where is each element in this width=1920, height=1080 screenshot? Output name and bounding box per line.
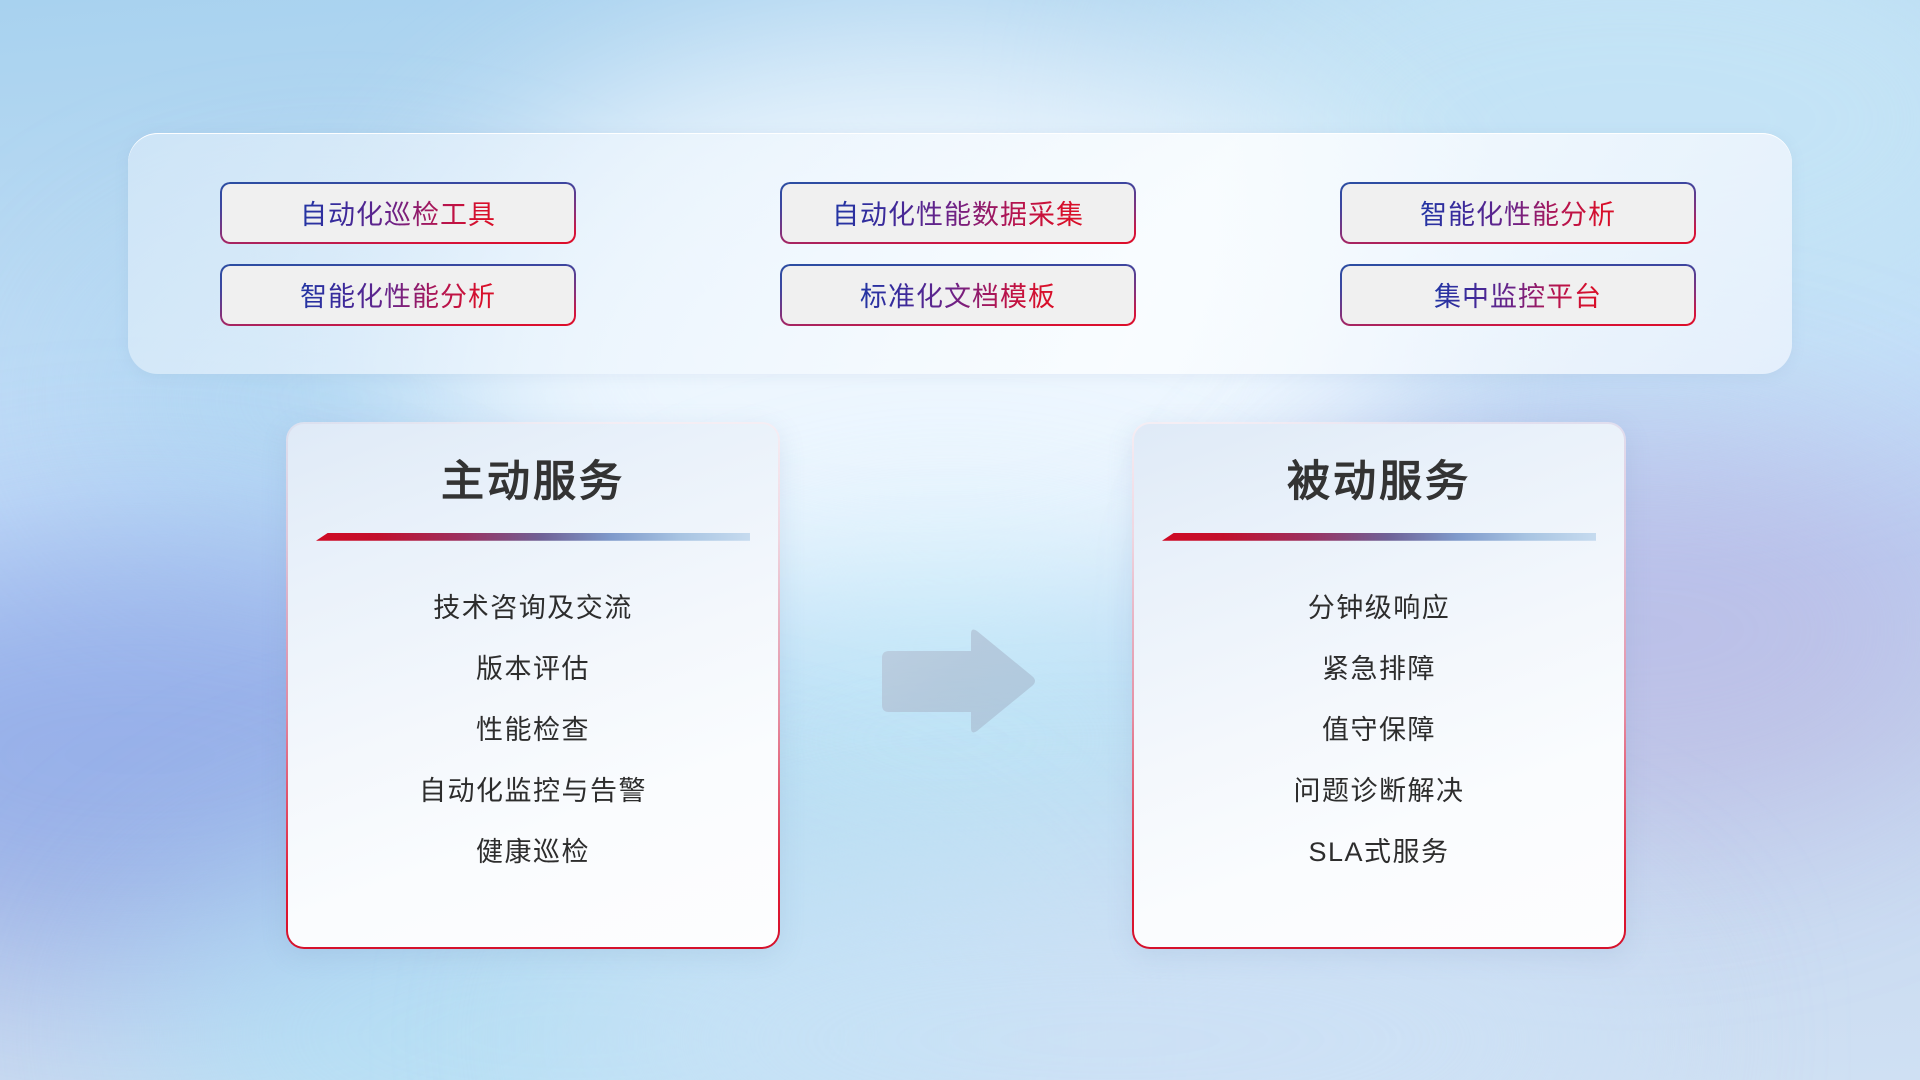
- card-title: 主动服务: [441, 457, 625, 508]
- tag-standardized-document-template[interactable]: 标准化文档模板: [780, 264, 1136, 326]
- service-card-reactive[interactable]: 被动服务 分钟级响应 紧急排障 值守保障 问题诊断解决 SLA式服务: [1132, 422, 1626, 949]
- tag-surface: 自动化巡检工具: [221, 183, 575, 243]
- tag-automated-performance-data-collection[interactable]: 自动化性能数据采集: [780, 182, 1136, 244]
- service-card-proactive[interactable]: 主动服务 技术咨询及交流 版本评估 性能检查 自动化监控与告警 健康巡检: [286, 422, 780, 949]
- card-divider: [1162, 533, 1596, 541]
- card-title: 被动服务: [1287, 457, 1471, 508]
- list-item: 分钟级响应: [1308, 578, 1451, 639]
- slide-canvas: 自动化巡检工具 智能化性能分析 自动化性能数据采集 标准化文档模板: [0, 0, 1920, 1080]
- tag-automation-inspection-tool[interactable]: 自动化巡检工具: [220, 182, 576, 244]
- list-item: 版本评估: [476, 639, 590, 700]
- list-item: 紧急排障: [1322, 639, 1436, 700]
- list-item: 问题诊断解决: [1294, 761, 1465, 822]
- tag-label: 智能化性能分析: [300, 275, 496, 314]
- card-surface: 主动服务 技术咨询及交流 版本评估 性能检查 自动化监控与告警 健康巡检: [288, 424, 778, 947]
- tag-surface: 智能化性能分析: [221, 265, 575, 325]
- right-arrow-icon: [874, 628, 1038, 736]
- list-item: 健康巡检: [476, 822, 590, 883]
- tag-label: 自动化巡检工具: [300, 193, 496, 232]
- tag-surface: 自动化性能数据采集: [781, 183, 1135, 243]
- tag-surface: 标准化文档模板: [781, 265, 1135, 325]
- tag-column-3: 智能化性能分析 集中监控平台: [1340, 182, 1696, 326]
- capability-tag-panel: 自动化巡检工具 智能化性能分析 自动化性能数据采集 标准化文档模板: [128, 133, 1792, 374]
- list-item: 值守保障: [1322, 700, 1436, 761]
- tag-intelligent-performance-analysis-a[interactable]: 智能化性能分析: [220, 264, 576, 326]
- card-item-list: 分钟级响应 紧急排障 值守保障 问题诊断解决 SLA式服务: [1134, 578, 1624, 883]
- list-item: 技术咨询及交流: [433, 578, 633, 639]
- tag-intelligent-performance-analysis-b[interactable]: 智能化性能分析: [1340, 182, 1696, 244]
- tag-centralized-monitoring-platform[interactable]: 集中监控平台: [1340, 264, 1696, 326]
- tag-label: 智能化性能分析: [1420, 193, 1616, 232]
- tag-surface: 智能化性能分析: [1341, 183, 1695, 243]
- tag-surface: 集中监控平台: [1341, 265, 1695, 325]
- card-item-list: 技术咨询及交流 版本评估 性能检查 自动化监控与告警 健康巡检: [288, 578, 778, 883]
- tag-column-2: 自动化性能数据采集 标准化文档模板: [780, 182, 1136, 326]
- flow-arrow: [874, 628, 1038, 736]
- tag-column-1: 自动化巡检工具 智能化性能分析: [220, 182, 576, 326]
- tag-label: 集中监控平台: [1434, 275, 1602, 314]
- card-divider: [316, 533, 750, 541]
- tag-label: 自动化性能数据采集: [832, 193, 1084, 232]
- list-item: SLA式服务: [1308, 822, 1449, 883]
- list-item: 性能检查: [476, 700, 590, 761]
- card-surface: 被动服务 分钟级响应 紧急排障 值守保障 问题诊断解决 SLA式服务: [1134, 424, 1624, 947]
- tag-label: 标准化文档模板: [860, 275, 1056, 314]
- list-item: 自动化监控与告警: [419, 761, 647, 822]
